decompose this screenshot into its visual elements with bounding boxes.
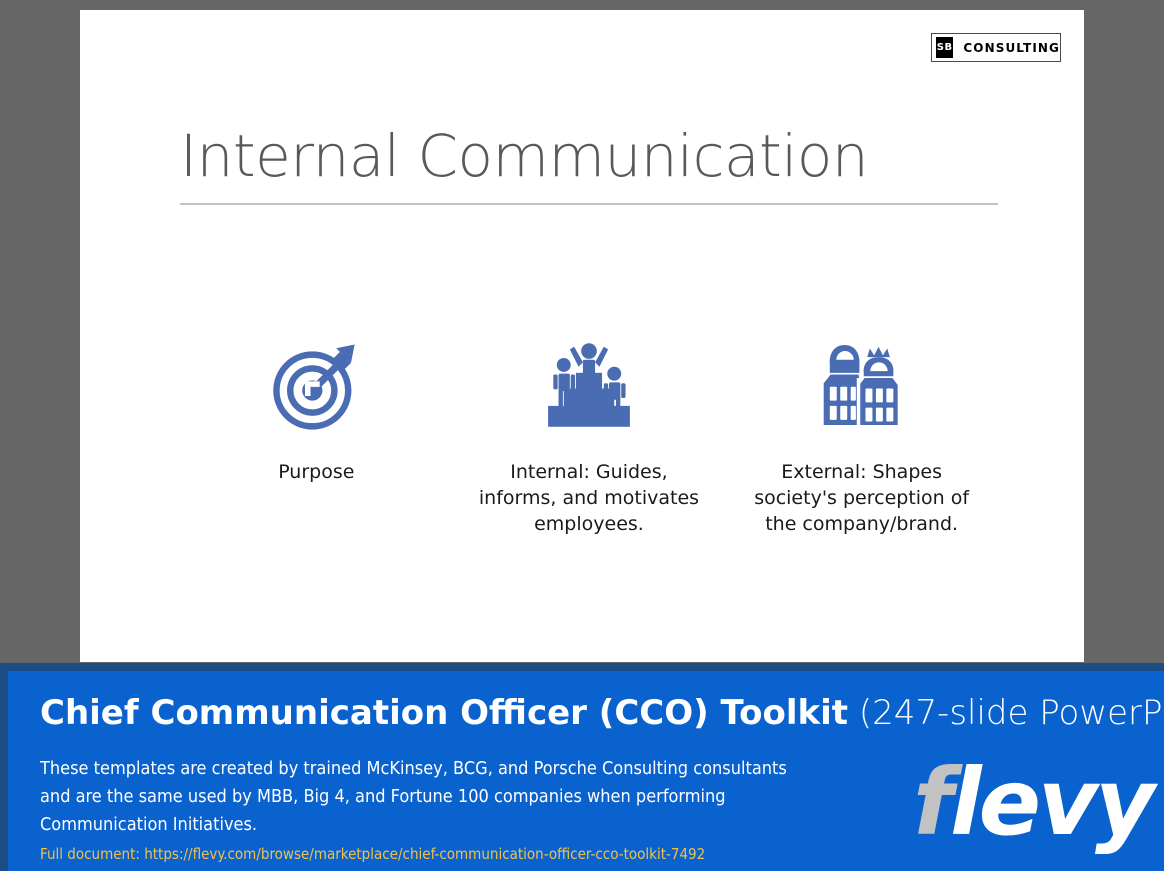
slide-canvas: SB CONSULTING Internal Communication (80, 10, 1084, 662)
column-label: External: Shapes society's perception of… (754, 459, 969, 537)
column-label: Purpose (278, 459, 354, 485)
sb-consulting-logo: SB CONSULTING (931, 33, 1061, 62)
banner-title-light: (247-slide PowerPoint) (859, 693, 1164, 733)
banner-inner: Chief Communication Officer (CCO) Toolki… (8, 671, 1164, 871)
title-divider (180, 203, 998, 205)
banner-description: These templates are created by trained M… (40, 755, 820, 839)
column-internal: Internal: Guides, informs, and motivates… (453, 335, 726, 537)
banner-document-link[interactable]: Full document: https://flevy.com/browse/… (40, 845, 705, 863)
target-arrow-icon (270, 335, 362, 435)
columns-container: Purpose (180, 335, 998, 537)
page-title: Internal Communication (180, 122, 868, 190)
sb-logo-wordmark: CONSULTING (963, 41, 1060, 55)
podium-winners-icon (541, 335, 637, 435)
flevy-logo-f: f (913, 749, 950, 856)
flevy-promo-banner: Chief Communication Officer (CCO) Toolki… (0, 663, 1164, 871)
column-purpose: Purpose (180, 335, 453, 537)
banner-title-strong: Chief Communication Officer (CCO) Toolki… (40, 693, 848, 733)
flevy-logo[interactable]: flevy (913, 757, 1152, 849)
sb-logo-mark: SB (936, 37, 953, 58)
flevy-logo-rest: levy (950, 749, 1152, 856)
banner-title: Chief Communication Officer (CCO) Toolki… (40, 693, 1164, 733)
column-label: Internal: Guides, informs, and motivates… (479, 459, 699, 537)
column-external: External: Shapes society's perception of… (725, 335, 998, 537)
two-figures-icon (818, 335, 906, 435)
